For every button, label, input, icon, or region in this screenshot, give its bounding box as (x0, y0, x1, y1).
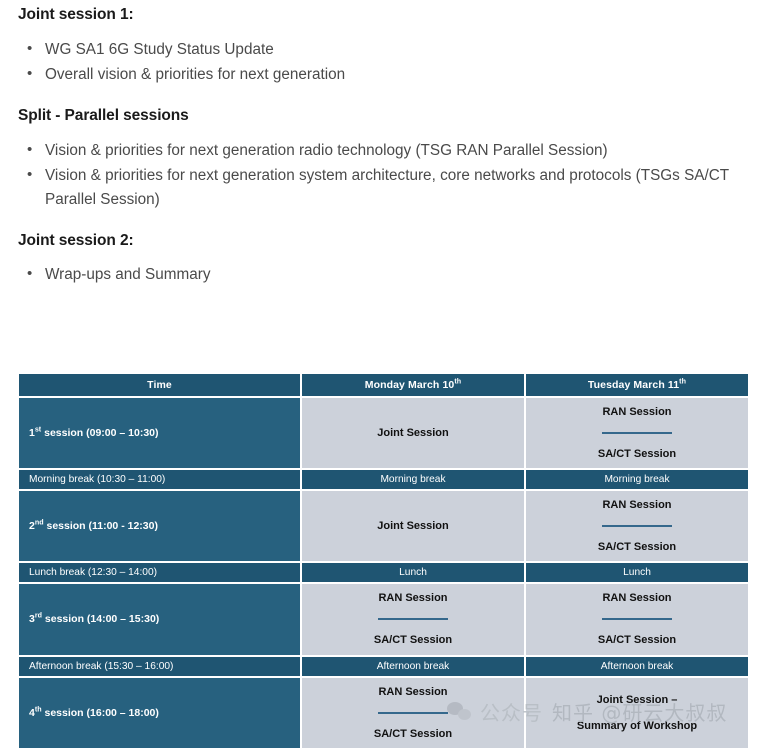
time-cell: Afternoon break (15:30 – 16:00) (19, 657, 300, 676)
session-ordinal-suffix: nd (35, 519, 44, 527)
session-label-top: Joint Session – (597, 694, 678, 706)
parallel-session-stack: Joint Session –Summary of Workshop (532, 694, 742, 732)
agenda-section: Joint session 1:WG SA1 6G Study Status U… (0, 0, 765, 287)
break-cell: Afternoon break (302, 657, 524, 676)
session-cell: Joint Session (302, 491, 524, 561)
agenda-bullet-item: Vision & priorities for next generation … (18, 139, 747, 163)
agenda-bullet-list: Vision & priorities for next generation … (18, 139, 747, 212)
table-header-row: Time Monday March 10th Tuesday March 11t… (19, 374, 748, 396)
table-row: 1st session (09:00 – 10:30)Joint Session… (19, 398, 748, 468)
cell-text: Lunch (623, 567, 651, 578)
break-cell: Morning break (526, 470, 748, 489)
column-header-label: Monday March 10 (365, 379, 455, 391)
agenda-bullet-item: WG SA1 6G Study Status Update (18, 38, 747, 62)
session-cell: RAN SessionSA/CT Session (302, 678, 524, 748)
table-row: Afternoon break (15:30 – 16:00)Afternoon… (19, 657, 748, 676)
session-label-bottom: SA/CT Session (598, 541, 676, 553)
time-cell: 1st session (09:00 – 10:30) (19, 398, 300, 468)
cell-text: Afternoon break (377, 661, 450, 672)
break-time-label: Afternoon break (15:30 – 16:00) (29, 661, 173, 672)
agenda-bullet-item: Overall vision & priorities for next gen… (18, 63, 747, 87)
agenda-bullet-item: Wrap-ups and Summary (18, 263, 747, 287)
session-label-top: RAN Session (602, 499, 671, 511)
schedule-table: Time Monday March 10th Tuesday March 11t… (17, 372, 750, 750)
session-cell: Joint Session (302, 398, 524, 468)
agenda-heading: Joint session 1: (18, 6, 747, 25)
cell-text: Morning break (604, 474, 669, 485)
session-time-range: session (14:00 – 15:30) (42, 613, 159, 625)
time-cell: 2nd session (11:00 - 12:30) (19, 491, 300, 561)
session-time-range: session (11:00 - 12:30) (44, 520, 158, 532)
session-cell: RAN SessionSA/CT Session (526, 398, 748, 468)
session-label-bottom: Summary of Workshop (577, 720, 697, 732)
parallel-session-stack: RAN SessionSA/CT Session (532, 406, 742, 460)
session-ordinal-suffix: th (35, 705, 42, 713)
table-row: 4th session (16:00 – 18:00)RAN SessionSA… (19, 678, 748, 748)
agenda-bullet-list: Wrap-ups and Summary (18, 263, 747, 287)
cell-text: Lunch (399, 567, 427, 578)
table-row: 2nd session (11:00 - 12:30)Joint Session… (19, 491, 748, 561)
time-cell: Lunch break (12:30 – 14:00) (19, 563, 300, 582)
table-row: Lunch break (12:30 – 14:00)LunchLunch (19, 563, 748, 582)
session-divider-line (602, 525, 672, 527)
column-header-tuesday: Tuesday March 11th (526, 374, 748, 396)
parallel-session-stack: RAN SessionSA/CT Session (532, 592, 742, 646)
session-label-bottom: SA/CT Session (598, 634, 676, 646)
session-time-range: session (16:00 – 18:00) (42, 707, 159, 719)
break-time-label: Morning break (10:30 – 11:00) (29, 474, 165, 485)
time-cell: 3rd session (14:00 – 15:30) (19, 584, 300, 654)
column-header-label: Time (147, 379, 172, 391)
cell-text: Joint Session (377, 427, 449, 439)
table-row: 3rd session (14:00 – 15:30)RAN SessionSA… (19, 584, 748, 654)
agenda-bullet-list: WG SA1 6G Study Status UpdateOverall vis… (18, 38, 747, 87)
column-header-ordinal-suffix: th (454, 378, 461, 386)
session-divider-line (378, 712, 448, 714)
session-cell: RAN SessionSA/CT Session (526, 584, 748, 654)
session-cell: RAN SessionSA/CT Session (526, 491, 748, 561)
session-cell: RAN SessionSA/CT Session (302, 584, 524, 654)
parallel-session-stack: RAN SessionSA/CT Session (308, 686, 518, 740)
time-cell: Morning break (10:30 – 11:00) (19, 470, 300, 489)
break-cell: Morning break (302, 470, 524, 489)
column-header-monday: Monday March 10th (302, 374, 524, 396)
break-cell: Afternoon break (526, 657, 748, 676)
agenda-heading: Split - Parallel sessions (18, 107, 747, 126)
schedule-table-container: Time Monday March 10th Tuesday March 11t… (17, 372, 748, 750)
parallel-session-stack: RAN SessionSA/CT Session (532, 499, 742, 553)
column-header-label: Tuesday March 11 (588, 379, 679, 391)
session-time-range: session (09:00 – 10:30) (41, 427, 158, 439)
break-cell: Lunch (302, 563, 524, 582)
session-label-top: RAN Session (378, 686, 447, 698)
parallel-session-stack: RAN SessionSA/CT Session (308, 592, 518, 646)
table-row: Morning break (10:30 – 11:00)Morning bre… (19, 470, 748, 489)
session-label-bottom: SA/CT Session (598, 448, 676, 460)
session-divider-line (378, 618, 448, 620)
session-ordinal-suffix: rd (35, 612, 42, 620)
agenda-heading: Joint session 2: (18, 232, 747, 251)
cell-text: Morning break (380, 474, 445, 485)
session-cell: Joint Session –Summary of Workshop (526, 678, 748, 748)
session-label-top: RAN Session (602, 406, 671, 418)
session-label-top: RAN Session (378, 592, 447, 604)
break-time-label: Lunch break (12:30 – 14:00) (29, 567, 157, 578)
session-label-top: RAN Session (602, 592, 671, 604)
session-divider-line (602, 432, 672, 434)
cell-text: Afternoon break (601, 661, 674, 672)
break-cell: Lunch (526, 563, 748, 582)
column-header-time: Time (19, 374, 300, 396)
session-label-bottom: SA/CT Session (374, 728, 452, 740)
time-cell: 4th session (16:00 – 18:00) (19, 678, 300, 748)
session-label-bottom: SA/CT Session (374, 634, 452, 646)
cell-text: Joint Session (377, 520, 449, 532)
session-divider-line (602, 618, 672, 620)
column-header-ordinal-suffix: th (679, 378, 686, 386)
agenda-bullet-item: Vision & priorities for next generation … (18, 164, 747, 211)
